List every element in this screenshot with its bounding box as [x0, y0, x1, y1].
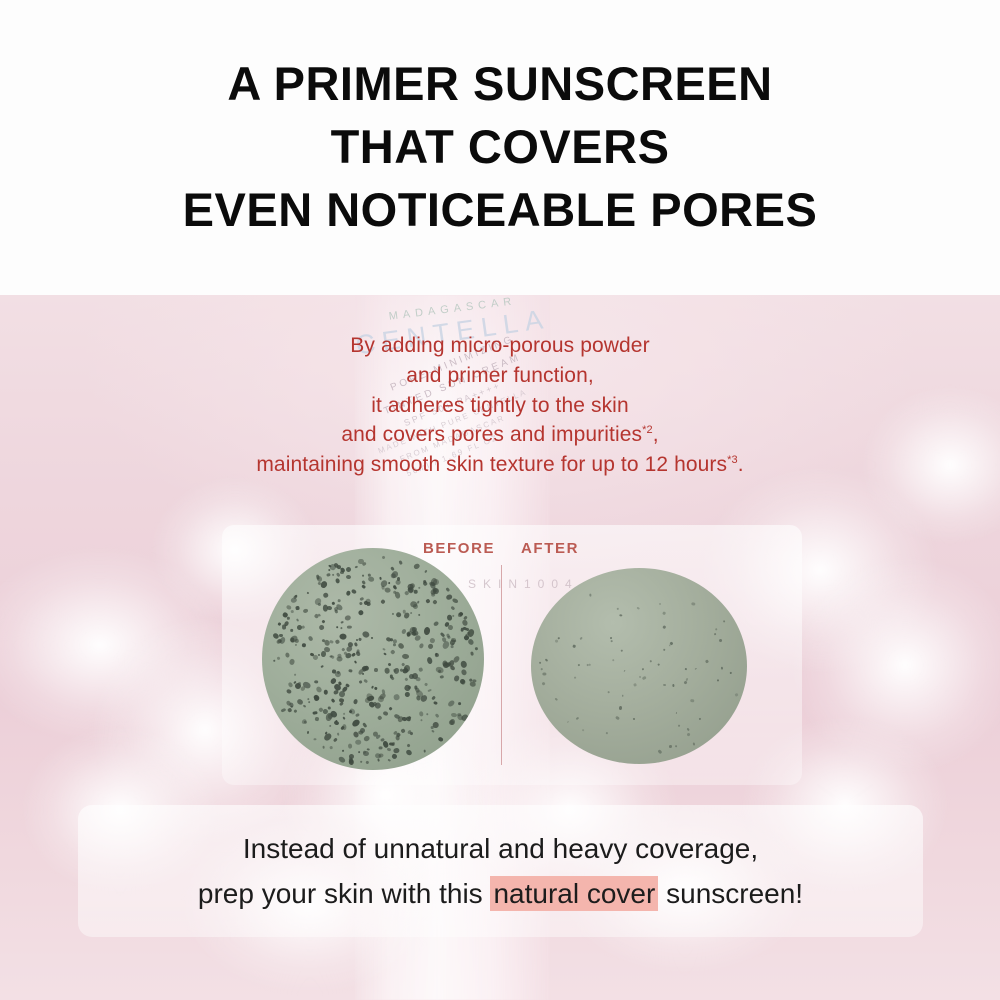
pore-dot [368, 576, 375, 582]
pore-dot [459, 668, 467, 676]
pore-dot [632, 717, 635, 720]
pore-dot [409, 582, 415, 587]
pore-dot [470, 651, 474, 655]
pore-dot [362, 673, 365, 676]
pore-dot [358, 559, 364, 565]
pore-dot [467, 638, 475, 646]
pore-dot [718, 638, 722, 642]
copy-line-2: and primer function, [0, 361, 1000, 391]
pore-dot [367, 695, 376, 702]
pore-dot [302, 608, 308, 613]
pore-dot [721, 667, 723, 670]
pore-dot [341, 621, 345, 624]
pore-dot [461, 619, 468, 626]
pore-dot [374, 668, 378, 672]
pore-dot [315, 686, 322, 694]
pore-dot [294, 674, 297, 677]
pore-dot [307, 697, 310, 700]
pore-dot [387, 759, 391, 762]
pore-dot [379, 753, 385, 758]
pore-dot [575, 716, 579, 720]
pore-dot [302, 704, 305, 707]
pore-dot [377, 715, 382, 720]
pore-dot [287, 707, 292, 712]
pore-dot [459, 611, 464, 616]
pore-dot [658, 664, 660, 666]
pore-dot [705, 660, 709, 664]
caption-line-2-pre: prep your skin with this [198, 878, 491, 909]
pore-dot [346, 566, 352, 572]
pore-dot [392, 613, 395, 616]
promo-image: A PRIMER SUNSCREEN THAT COVERS EVEN NOTI… [0, 0, 1000, 1000]
pore-dot [336, 657, 342, 662]
copy-line-5-tail: . [738, 453, 744, 476]
pore-dot [452, 598, 459, 605]
pore-dot [353, 698, 358, 704]
pore-dot [322, 592, 329, 599]
caption-panel: Instead of unnatural and heavy coverage,… [78, 805, 923, 937]
pore-dot [345, 590, 350, 596]
pore-dot [358, 750, 361, 753]
pore-dot [279, 634, 283, 637]
after-skin-image [531, 568, 747, 764]
pore-dot [438, 736, 444, 741]
pore-dot [316, 575, 323, 582]
pore-dot [435, 653, 440, 658]
pore-dot [662, 625, 666, 629]
copy-line-4-superscript: *2 [642, 424, 653, 436]
pore-dot [333, 737, 338, 742]
pore-dot [405, 692, 410, 697]
pore-dot [407, 686, 410, 690]
pore-dot [330, 746, 333, 749]
pore-dot [401, 716, 407, 721]
pore-dot [306, 592, 308, 594]
pore-dot [342, 750, 345, 752]
after-label: AFTER [521, 540, 579, 557]
pore-dot [433, 621, 439, 627]
pore-dot [273, 660, 276, 662]
pore-dot [623, 670, 625, 672]
pore-dot [439, 675, 444, 679]
pore-dot [642, 668, 645, 671]
pore-dot [419, 719, 422, 722]
pore-dot [284, 621, 290, 627]
pore-dot [663, 683, 666, 686]
pore-dot [388, 581, 391, 584]
pore-dot [431, 695, 436, 700]
pore-dot [447, 662, 451, 666]
pore-dot [315, 680, 319, 683]
pore-dot [621, 649, 623, 651]
pore-dot [340, 627, 343, 630]
pore-dot [337, 599, 340, 602]
pore-dot [545, 659, 548, 662]
pore-dot [611, 659, 614, 662]
pore-dot [343, 712, 346, 715]
pore-dot [691, 602, 695, 606]
pore-dot [427, 688, 431, 692]
copy-line-3: it adheres tightly to the skin [0, 391, 1000, 421]
pore-dot [344, 614, 351, 621]
pore-dot [434, 713, 439, 718]
pore-dot [332, 574, 335, 577]
pore-dot [277, 656, 281, 660]
pore-dot [446, 587, 450, 591]
pore-dot [331, 656, 335, 660]
caption-line-1: Instead of unnatural and heavy coverage, [243, 826, 758, 871]
pore-dot [734, 692, 738, 696]
pore-dot [359, 637, 362, 640]
pore-dot [291, 609, 294, 612]
pore-dot [398, 642, 405, 649]
pore-dot [686, 728, 690, 732]
pore-dot [541, 681, 545, 685]
pore-dot [695, 668, 697, 670]
pore-dot [581, 729, 584, 731]
pore-dot [295, 639, 299, 643]
pore-dot [555, 698, 559, 702]
pore-dot [301, 626, 305, 630]
pore-dot [382, 648, 385, 651]
pore-dot [589, 664, 591, 666]
pore-dot [313, 695, 317, 698]
pore-dot [427, 643, 434, 650]
pore-dot [387, 662, 391, 666]
pore-dot [338, 755, 347, 764]
pore-dot [339, 633, 346, 639]
pore-dot [335, 578, 340, 584]
caption-line-2-post: sunscreen! [658, 878, 803, 909]
caption-line-2: prep your skin with this natural cover s… [198, 871, 803, 916]
pore-dot [393, 585, 398, 590]
pore-dot [685, 667, 687, 669]
pore-dot [717, 679, 720, 681]
pore-dot [281, 708, 287, 713]
pore-dot [351, 718, 361, 727]
pore-dot [616, 608, 618, 610]
pore-dot [693, 743, 696, 746]
pore-dot [359, 681, 363, 685]
pore-dot [288, 702, 293, 708]
pore-dot [566, 721, 568, 723]
pore-dot [322, 746, 325, 749]
copy-line-4-text: and covers pores and impurities [341, 423, 642, 446]
pore-dot [605, 731, 607, 733]
pore-dot [384, 668, 390, 674]
header-section: A PRIMER SUNSCREEN THAT COVERS EVEN NOTI… [0, 0, 1000, 295]
pore-dot [422, 580, 426, 583]
pore-dot [699, 717, 702, 720]
pore-dot [419, 643, 425, 649]
pore-dot [715, 628, 718, 631]
pore-dot [359, 596, 364, 601]
pore-dot [579, 636, 583, 640]
pore-dot [355, 566, 358, 569]
pore-dot [335, 640, 340, 645]
pore-dot [295, 643, 298, 646]
pore-dot [542, 673, 546, 676]
pore-dot [410, 731, 413, 734]
pore-dot [425, 598, 430, 604]
pore-dot [449, 605, 454, 610]
pore-dot [417, 601, 420, 604]
pore-dot [361, 580, 366, 585]
pore-dot [371, 637, 374, 639]
pore-dot [287, 617, 290, 620]
pore-dot [415, 676, 420, 681]
pore-dot [355, 650, 361, 657]
pore-dot [296, 698, 303, 705]
pore-dot [423, 749, 426, 752]
pore-dot [363, 735, 370, 742]
pore-dot [354, 642, 358, 647]
pore-dot [663, 611, 666, 615]
pore-dot [374, 687, 378, 691]
pore-dot [447, 700, 455, 708]
pore-dot [460, 661, 467, 669]
pore-dot [394, 747, 400, 753]
pore-dot [330, 698, 335, 703]
pore-dot [322, 605, 327, 612]
pore-dot [346, 574, 352, 579]
copy-line-5-text: maintaining smooth skin texture for up t… [256, 453, 727, 476]
pore-dot [669, 744, 672, 747]
pore-dot [336, 625, 339, 628]
pore-dot [395, 579, 401, 585]
pore-dot [658, 749, 662, 753]
pore-dot [433, 701, 438, 705]
pore-dot [676, 711, 678, 713]
pore-dot [678, 725, 681, 728]
pore-dot [730, 671, 732, 673]
pore-dot [419, 667, 424, 672]
body-copy: By adding micro-porous powder and primer… [0, 331, 1000, 480]
pore-dot [574, 676, 577, 679]
brand-watermark: SKIN1004 [468, 577, 579, 591]
before-skin-image [262, 548, 484, 770]
pore-dot [607, 691, 609, 694]
pore-dot [401, 628, 406, 634]
comparison-divider [501, 565, 502, 765]
pore-dot [366, 761, 370, 765]
pore-dot [457, 702, 460, 705]
pore-dot [329, 725, 331, 727]
pore-dot [313, 711, 318, 715]
pore-dot [362, 750, 365, 753]
pore-dot [414, 635, 422, 643]
pore-dot [578, 663, 580, 665]
pore-dot [381, 689, 385, 694]
pore-dot [293, 709, 297, 713]
pore-dot [659, 603, 661, 605]
caption-highlight: natural cover [490, 876, 658, 911]
pore-dot [419, 711, 423, 716]
pore-dot [417, 587, 420, 589]
pore-dot [370, 685, 373, 689]
headline-line-3: EVEN NOTICEABLE PORES [183, 179, 818, 242]
pore-dot [354, 661, 357, 665]
pore-dot [362, 574, 365, 577]
pore-dot [410, 611, 413, 614]
pore-dot [359, 760, 362, 763]
pore-dot [383, 710, 389, 715]
pore-dot [348, 668, 353, 672]
pore-dot [326, 573, 330, 577]
before-label: BEFORE [423, 540, 495, 557]
pore-dot [301, 643, 306, 647]
pore-dot [541, 667, 543, 669]
pore-dot [425, 683, 429, 686]
pore-dot [308, 701, 310, 703]
pore-dot [424, 570, 427, 573]
pore-dot [387, 748, 392, 752]
pore-dot [391, 741, 394, 745]
pore-dot [379, 746, 383, 749]
pore-dot [634, 683, 637, 687]
pore-dot [405, 748, 413, 756]
pore-dot [361, 630, 370, 638]
pore-dot [317, 603, 321, 607]
pore-dot [351, 589, 357, 595]
pore-dot [423, 626, 430, 635]
pore-dot [286, 688, 292, 694]
pore-dot [332, 601, 336, 605]
pore-dot [391, 677, 396, 682]
pore-dot [384, 587, 391, 593]
copy-line-5: maintaining smooth skin texture for up t… [0, 450, 1000, 480]
pore-dot [386, 637, 392, 642]
pore-dot [691, 699, 695, 702]
pore-dot [328, 707, 331, 710]
pore-dot [554, 640, 557, 643]
pore-dot [334, 670, 342, 678]
pore-dot [394, 694, 401, 701]
pore-dot [357, 609, 364, 616]
pore-dot [429, 637, 435, 643]
pore-dot [314, 738, 317, 740]
pore-dot [308, 635, 314, 641]
pore-dot [642, 675, 646, 679]
pore-dot [395, 735, 400, 741]
pore-dot [285, 652, 290, 658]
pore-dot [352, 731, 359, 739]
pore-dot [300, 718, 307, 725]
pore-dot [426, 657, 433, 665]
pore-dot [622, 695, 623, 697]
pore-dot [675, 744, 678, 746]
pore-dot [306, 731, 309, 734]
copy-line-5-superscript: *3 [727, 454, 738, 466]
pore-dot [558, 637, 560, 639]
pore-dot [588, 594, 591, 597]
pore-dot [414, 590, 418, 594]
pore-dot [328, 569, 331, 572]
pore-dot [359, 601, 363, 605]
pore-dot [467, 632, 470, 635]
pore-dot [452, 614, 455, 617]
pore-dot [379, 577, 382, 580]
pore-dot [321, 664, 324, 667]
pore-dot [377, 759, 380, 762]
copy-line-1: By adding micro-porous powder [0, 331, 1000, 361]
pore-dot [461, 679, 467, 685]
pore-dot [637, 607, 641, 610]
pore-dot [432, 730, 435, 733]
pore-dot [337, 732, 340, 735]
pore-dot [391, 753, 398, 760]
pore-dot [611, 640, 613, 642]
pore-dot [380, 599, 385, 605]
pore-dot [573, 644, 576, 647]
pore-dot [403, 609, 406, 613]
pore-dot [713, 633, 716, 636]
pore-dot [649, 660, 652, 663]
pore-dot [414, 563, 421, 570]
pore-dot [392, 639, 397, 643]
pore-dot [447, 625, 453, 630]
pore-dot [431, 593, 435, 597]
pore-dot [475, 647, 479, 651]
headline-line-1: A PRIMER SUNSCREEN [227, 53, 772, 116]
pore-dot [663, 649, 666, 652]
copy-line-4: and covers pores and impurities*2, [0, 420, 1000, 450]
pore-dot [290, 629, 293, 632]
pore-dot [416, 695, 421, 700]
pore-dot [363, 678, 368, 683]
pore-dot [342, 723, 346, 729]
pore-dot [388, 706, 392, 710]
pore-dot [288, 658, 295, 665]
pore-dot [672, 683, 675, 686]
pore-dot [620, 614, 623, 616]
pore-dot [723, 620, 725, 623]
pore-dot [317, 624, 324, 631]
pore-dot [382, 556, 386, 560]
pore-dot [320, 651, 325, 658]
pore-dot [615, 716, 620, 721]
pore-dot [360, 728, 365, 734]
pore-dot [321, 620, 325, 624]
pore-dot [402, 654, 409, 660]
pore-dot [355, 739, 361, 744]
pore-dot [296, 618, 299, 622]
pore-dot [417, 614, 420, 617]
pore-dot [426, 713, 429, 716]
pore-dot [315, 716, 319, 720]
headline-line-2: THAT COVERS [331, 116, 670, 179]
pore-dot [432, 599, 437, 604]
pore-dot [686, 733, 690, 737]
pore-dot [406, 743, 410, 747]
pore-dot [361, 585, 366, 590]
pore-dot [618, 706, 622, 710]
pore-dot [433, 722, 440, 729]
pore-dot [390, 572, 396, 577]
pore-dot [400, 728, 406, 734]
copy-line-4-tail: , [653, 423, 659, 446]
pore-dot [399, 560, 403, 564]
pore-dot [278, 622, 282, 626]
pore-dot [348, 744, 353, 749]
pore-dot [296, 605, 300, 609]
pore-dot [324, 690, 328, 695]
pore-dot [342, 717, 345, 720]
pore-dot [384, 653, 387, 656]
pore-dot [539, 662, 541, 665]
pore-dot [390, 649, 395, 654]
pore-dot [355, 713, 360, 717]
